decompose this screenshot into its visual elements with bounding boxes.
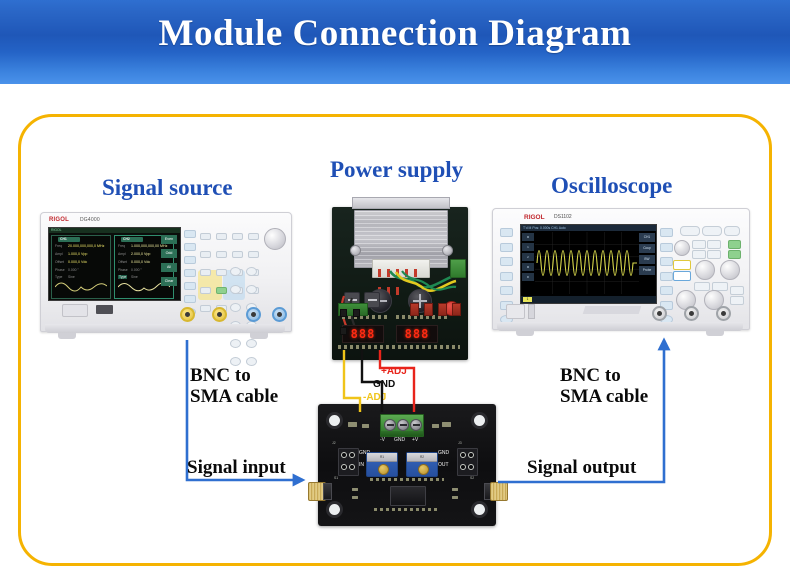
menu-label-even[interactable]: Even [161, 235, 177, 244]
silkscreen-j3: J3 [458, 441, 462, 445]
oscilloscope-waveform-grid [535, 232, 639, 294]
right-softkey-4[interactable] [660, 272, 673, 281]
terminal-label-positive: +V [412, 437, 418, 443]
page-title: Module Connection Diagram [0, 12, 790, 55]
oscilloscope-brand: RIGOL [524, 214, 545, 221]
ext-trigger-bnc-connector[interactable] [716, 306, 731, 321]
math-button[interactable] [694, 282, 710, 291]
horizontal-button-4[interactable] [707, 250, 721, 259]
left-softkey-5[interactable] [500, 286, 513, 295]
transformer-screw-right [442, 245, 453, 256]
trimpot-screw-right[interactable] [418, 464, 429, 475]
power-terminal-block[interactable] [380, 414, 424, 437]
numpad-0[interactable] [246, 339, 257, 348]
mount-hole-top-left [326, 412, 343, 429]
wire-label-positive-adj: +ADJ [381, 366, 407, 377]
trimmer-potentiometer-right[interactable]: R2 [406, 452, 438, 477]
left-menu-item-2[interactable]: 1 [522, 243, 534, 251]
channel1-header: CH1 [58, 237, 80, 242]
right-softkey-1[interactable] [660, 228, 673, 237]
oscilloscope-bottom-bar [521, 296, 656, 303]
left-softkey-3[interactable] [500, 257, 513, 266]
silkscreen-s2: S2 [470, 476, 474, 480]
force-trigger-button[interactable] [730, 296, 744, 305]
bnc-center-pin-icon [689, 311, 694, 316]
signal-generator-base [45, 324, 285, 333]
power-supply-output-terminal[interactable] [450, 259, 466, 278]
rotary-knob[interactable] [264, 228, 286, 250]
output-header-label-gnd: GND [438, 450, 449, 456]
left-menu-item-5[interactable]: R [522, 273, 534, 281]
left-softkey-1[interactable] [500, 228, 513, 237]
ch1-val-offset: 0.000,0 Vdc [68, 260, 87, 264]
bnc-center-pin-icon [251, 312, 256, 317]
title-banner: Module Connection Diagram [0, 0, 790, 84]
header-pad [468, 464, 474, 470]
signal-generator-brand: RIGOL [49, 217, 69, 223]
softkey-2[interactable] [184, 243, 196, 251]
smd-diode-right [432, 424, 439, 428]
trimpot-screw-left[interactable] [378, 464, 389, 475]
ch2-input-bnc-connector[interactable] [684, 306, 699, 321]
vertical-scale-knob-2[interactable] [720, 260, 740, 280]
channel1-panel: CH1 Freq 20.000,000,000,0 MHz Ampl 1.000… [51, 235, 111, 299]
ch1-val-freq: 20.000,000,000,0 MHz [68, 244, 104, 248]
right-softkey-5[interactable] [660, 286, 673, 295]
ch1-row-ampl: Ampl [55, 252, 63, 256]
smd-inductor-left [348, 422, 357, 427]
terminal-lip [381, 431, 423, 436]
key-waveform-8[interactable] [248, 251, 259, 259]
ch1-row-offset: Offset [55, 260, 64, 264]
key-waveform-2[interactable] [216, 233, 227, 241]
oscilloscope-status-text: T'd M Pos: 0.000s CH1 Auto [523, 226, 566, 230]
terminal-label-gnd: GND [394, 437, 405, 443]
current-display-value: 888 [405, 327, 430, 341]
run-stop-button[interactable] [728, 240, 741, 249]
horizontal-button-2[interactable] [707, 240, 721, 249]
oscilloscope-topbar: T'd M Pos: 0.000s CH1 Auto [521, 225, 656, 231]
channel2-name: CH2 [123, 237, 130, 241]
numpad-9[interactable] [230, 339, 241, 348]
sma-input-flange [323, 483, 332, 500]
ch1-row-phase: Phase [55, 268, 65, 272]
transformer-screw-left [350, 245, 361, 256]
bnc-center-pin-icon [277, 312, 282, 317]
key-waveform-9[interactable] [200, 269, 211, 277]
numpad-1[interactable] [230, 267, 241, 276]
key-waveform-3[interactable] [232, 233, 243, 241]
red-component-4 [452, 303, 461, 316]
key-output-enable[interactable] [216, 287, 227, 295]
header-pad [460, 464, 466, 470]
red-component-2 [424, 303, 433, 316]
mount-hole-bottom-left [326, 501, 343, 518]
label-signal-output: Signal output [527, 457, 636, 478]
menu-button-1[interactable] [680, 226, 700, 236]
sma-input-connector[interactable] [308, 482, 330, 499]
horizontal-button-1[interactable] [692, 240, 706, 249]
trimpot-label-right: R2 [407, 453, 437, 462]
heading-oscilloscope: Oscilloscope [551, 173, 672, 199]
ch2-output-bnc-connector[interactable] [212, 307, 227, 322]
softkey-1[interactable] [184, 230, 196, 238]
key-util-6[interactable] [200, 305, 211, 313]
connector-pin [378, 269, 381, 277]
side-menu-item-bw[interactable]: BW [639, 255, 655, 264]
header-pad [341, 464, 347, 470]
voltage-display-value: 888 [351, 327, 376, 341]
signal-generator-foot-right [250, 333, 268, 339]
sync2-bnc-connector[interactable] [272, 307, 287, 322]
mount-hole-top-right [471, 412, 488, 429]
signal-generator-foot-left [58, 333, 76, 339]
smd-resistor-1 [352, 488, 358, 491]
trimmer-potentiometer-left[interactable]: R1 [366, 452, 398, 477]
usb-port[interactable] [62, 304, 88, 317]
vertical-scale-knob-1[interactable] [695, 260, 715, 280]
left-menu-item-1[interactable]: M [522, 233, 534, 241]
softkey-3[interactable] [184, 256, 196, 264]
smd-resistor-2 [352, 496, 358, 499]
op-amp-ic [390, 486, 426, 506]
oscilloscope-foot-right [706, 330, 724, 336]
wire-label-gnd: GND [373, 379, 395, 390]
ch2-val-offset: 0.000,0 Vdc [131, 260, 150, 264]
menu-label-all[interactable]: All [161, 263, 177, 272]
output-header-label-out: OUT [438, 462, 449, 468]
label-bnc-sma-cable-left: BNC to SMA cable [190, 365, 278, 407]
terminal-screw-gnd[interactable] [397, 419, 409, 431]
ch1-row-freq: Freq [55, 244, 62, 248]
channel1-name: CH1 [60, 237, 67, 241]
key-util-3[interactable] [200, 287, 211, 295]
oscilloscope-power-button[interactable] [506, 304, 525, 319]
ch2-row-freq: Freq [118, 244, 125, 248]
menu-label-odd[interactable]: Odd [161, 249, 177, 258]
numpad-3[interactable] [230, 285, 241, 294]
silkscreen-j2: J2 [332, 441, 336, 445]
oscilloscope-screen: T'd M Pos: 0.000s CH1 Auto M 1 2 M R [520, 224, 657, 304]
header-pad [468, 452, 474, 458]
bnc-center-pin-icon [721, 311, 726, 316]
ch2-select-button[interactable] [673, 271, 691, 281]
single-button[interactable] [728, 250, 741, 259]
output-header[interactable] [457, 448, 478, 476]
sync1-bnc-connector[interactable] [246, 307, 261, 322]
label-bnc-left-line2: SMA cable [190, 386, 278, 407]
ch1-select-button[interactable] [673, 260, 691, 270]
transformer-clamp [352, 197, 450, 209]
ch2-val-freq: 1.000,000,000,00 MHz [131, 244, 167, 248]
ch1-input-bnc-connector[interactable] [652, 306, 667, 321]
oscilloscope-usb-port[interactable] [528, 304, 535, 319]
trimpot-label-left: R1 [367, 453, 397, 462]
signal-generator-device: RIGOL DG4000 RIGOL CH1 Freq 20.000,000,0… [40, 212, 290, 340]
sma-output-connector[interactable] [484, 482, 506, 499]
numpad-5[interactable] [230, 303, 241, 312]
power-supply-board: 888 888 [332, 197, 468, 360]
header-pad [341, 452, 347, 458]
key-waveform-1[interactable] [200, 233, 211, 241]
screen-topbar: RIGOL [49, 228, 180, 233]
amplifier-module-board: -V GND +V J2 GND IN J3 GND OUT R1 R2 S1 … [318, 404, 496, 526]
menu-label-clear[interactable]: Clear [161, 277, 177, 286]
psu-terminal-strip[interactable] [338, 303, 368, 316]
right-softkey-2[interactable] [660, 243, 673, 252]
channel-marker-badge: 1 [523, 297, 532, 302]
channel1-waveform [55, 278, 107, 295]
key-waveform-7[interactable] [232, 251, 243, 259]
label-bnc-right-line1: BNC to [560, 365, 648, 386]
oscilloscope-device: RIGOL DS1102 T'd M Pos: 0.000s CH1 Auto … [492, 208, 748, 340]
left-menu-item-4[interactable]: M [522, 263, 534, 271]
multipurpose-knob[interactable] [674, 240, 690, 256]
oscilloscope-left-menu[interactable]: M 1 2 M R [522, 233, 534, 283]
horizontal-button-3[interactable] [692, 250, 706, 259]
screen-topbar-text: RIGOL [51, 228, 62, 232]
label-bnc-sma-cable-right: BNC to SMA cable [560, 365, 648, 407]
front-panel-badge [96, 305, 113, 314]
wire-label-negative-adj: -ADJ [363, 392, 386, 403]
softkey-5[interactable] [184, 282, 196, 290]
trigger-menu-button[interactable] [730, 286, 744, 295]
red-component-3 [438, 303, 447, 316]
ch2-row-offset: Offset [118, 260, 127, 264]
header-pad [349, 452, 355, 458]
left-menu-item-3[interactable]: 2 [522, 253, 534, 261]
header-pad [460, 452, 466, 458]
smd-resistor-4 [452, 496, 458, 499]
side-menu-item-ch1[interactable]: CH1 [639, 233, 655, 242]
terminal-hole [340, 309, 347, 317]
key-waveform-10[interactable] [216, 269, 227, 277]
terminal-screw-negative[interactable] [384, 419, 396, 431]
ch2-val-ampl: 2.000,0 Vpp [131, 252, 150, 256]
heading-signal-source: Signal source [102, 175, 233, 201]
label-signal-input: Signal input [187, 457, 286, 478]
current-display: 888 [396, 325, 438, 343]
mount-hole-bottom-right [471, 501, 488, 518]
bnc-center-pin-icon [185, 312, 190, 317]
terminal-label-negative: -V [380, 437, 385, 443]
menu-button-2[interactable] [702, 226, 722, 236]
key-waveform-6[interactable] [216, 251, 227, 259]
heading-power-supply: Power supply [330, 157, 463, 183]
bnc-center-pin-icon [657, 311, 662, 316]
bnc-center-pin-icon [217, 312, 222, 317]
menu-button-3[interactable] [724, 226, 740, 236]
ch1-val-phase: 0.000 ° [68, 268, 79, 272]
label-bnc-right-line2: SMA cable [560, 386, 648, 407]
oscilloscope-foot-left [516, 330, 534, 336]
smd-resistor-3 [452, 488, 458, 491]
smd-diode-left [362, 424, 369, 428]
input-header-label-in: IN [359, 462, 364, 468]
side-menu-item-coup[interactable]: Coup [639, 244, 655, 253]
input-header[interactable] [338, 448, 359, 476]
smd-component-row-3 [338, 345, 460, 349]
oscilloscope-model: DS1102 [554, 214, 572, 220]
key-waveform-4[interactable] [248, 233, 259, 241]
red-component-1 [410, 303, 419, 316]
header-pad [349, 464, 355, 470]
ch2-row-phase: Phase [118, 268, 128, 272]
ch2-row-ampl: Ampl [118, 252, 126, 256]
sma-output-barrel [490, 482, 508, 501]
key-waveform-5[interactable] [200, 251, 211, 259]
amp-smd-row-top [370, 478, 444, 481]
silkscreen-s1: S1 [334, 476, 338, 480]
side-menu-item-probe[interactable]: Probe [639, 266, 655, 275]
label-bnc-left-line1: BNC to [190, 365, 278, 386]
amp-smd-row-bottom [374, 508, 440, 511]
softkey-4[interactable] [184, 269, 196, 277]
terminal-hole [353, 309, 360, 317]
numpad-4[interactable] [246, 285, 257, 294]
right-softkey-3[interactable] [660, 257, 673, 266]
softkey-6[interactable] [184, 295, 196, 303]
ch1-val-ampl: 1.000,0 Vpp [68, 252, 87, 256]
oscilloscope-side-menu[interactable]: CH1 Coup BW Probe [639, 233, 655, 277]
ch2-val-phase: 0.000 ° [131, 268, 142, 272]
left-softkey-2[interactable] [500, 243, 513, 252]
terminal-hole [340, 327, 347, 335]
probe-compensation-strip [583, 306, 642, 314]
smd-inductor-right [442, 422, 451, 427]
ch1-output-bnc-connector[interactable] [180, 307, 195, 322]
terminal-screw-positive[interactable] [410, 419, 422, 431]
signal-generator-model: DG4000 [80, 217, 100, 223]
channel2-header: CH2 [121, 237, 143, 242]
numpad-2[interactable] [246, 267, 257, 276]
voltage-display: 888 [342, 325, 384, 343]
left-softkey-4[interactable] [500, 272, 513, 281]
